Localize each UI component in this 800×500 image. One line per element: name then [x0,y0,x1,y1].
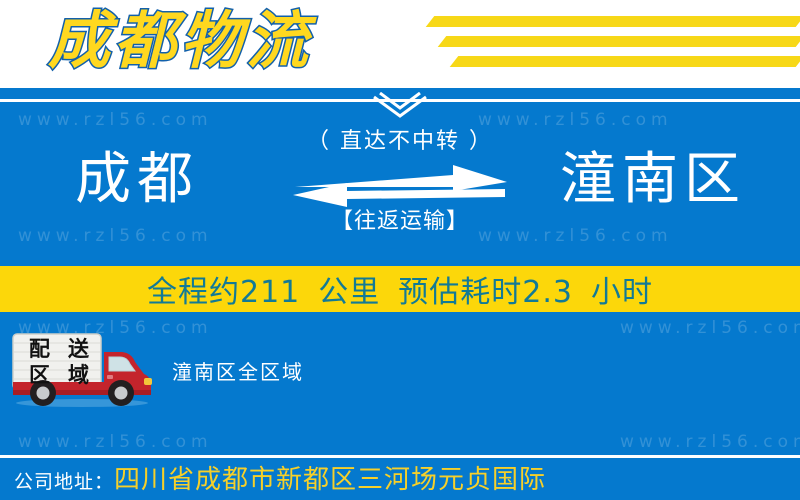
trip-info-text: 全程约211公里预估耗时2.3小时 [147,267,653,311]
distance-value: 211 [240,275,300,310]
brand-title: 成都物流 [48,2,312,80]
decorative-stripes [418,14,800,76]
address-value: 四川省成都市新都区三河场元贞国际 [114,465,546,495]
duration-prefix: 预估耗时 [398,275,522,310]
route-center: （ 直达不中转 ） 【往返运输】 [275,125,525,237]
destination-city: 潼南区 [528,139,778,221]
distance-prefix: 全程约 [147,275,240,310]
duration-unit: 小时 [591,275,653,310]
direct-note: （ 直达不中转 ） [275,125,525,159]
distance-unit: 公里 [318,275,380,310]
footer-divider-line [0,455,800,458]
coverage-area-text: 潼南区全区域 [172,356,304,385]
origin-city: 成都 [12,139,262,221]
double-headed-exchange-arrow-icon [275,165,525,207]
logistics-poster: 成都物流 成都 （ 直达不中转 ） 【往 [0,0,800,500]
delivery-truck-icon: 配 送 区 域 [8,330,158,408]
address-label: 公司地址： [14,471,114,493]
stripe-3 [450,56,800,67]
stripe-2 [438,36,800,47]
watermark-8: www.rzl56.com [620,432,800,452]
roundtrip-note: 【往返运输】 [275,207,525,237]
trip-info-bar: 全程约211公里预估耗时2.3小时 [0,266,800,312]
watermark-7: www.rzl56.com [18,432,213,452]
poster-header: 成都物流 [0,0,800,88]
stripe-1 [426,16,800,27]
company-address: 公司地址：四川省成都市新都区三河场元贞国际 [14,464,546,499]
delivery-area-section: 配 送 区 域 潼南区全区域 [0,330,800,410]
route-section: 成都 （ 直达不中转 ） 【往返运输】 潼南区 [0,125,800,260]
duration-value: 2.3 [522,275,573,310]
chevron-double-down-icon [370,92,430,122]
